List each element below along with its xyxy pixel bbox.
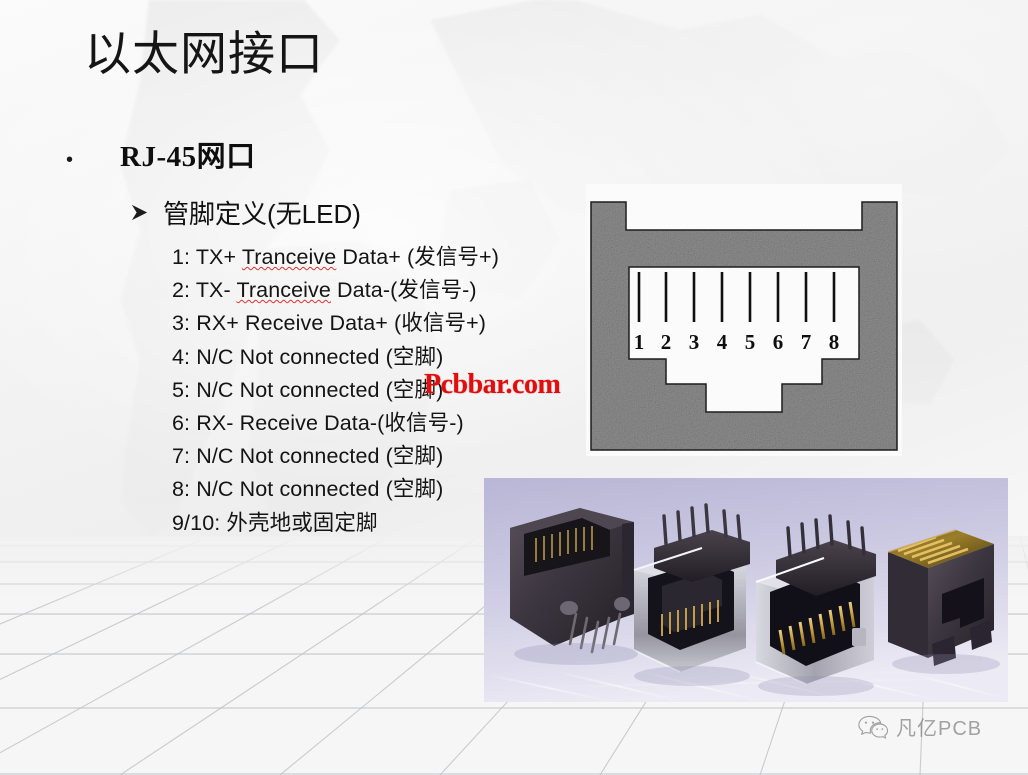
pin-description: Not connected (空脚) [240,378,444,402]
pin-number: 3: [172,311,196,335]
bullet-level2-label: 管脚定义(无LED) [163,194,361,231]
pin-signal: N/C [196,477,239,501]
svg-text:1: 1 [634,330,645,354]
page-title: 以太网接口 [84,28,324,81]
svg-text:7: 7 [801,330,812,354]
footer-brand-label: 凡亿PCB [896,712,982,741]
bullet-level1: • RJ-45网口 [66,133,256,175]
pin-number: 5: [172,378,196,402]
pin-number: 4: [172,345,196,369]
pin-signal: N/C [196,378,239,402]
svg-text:3: 3 [689,330,700,354]
list-item: 6: RX- Receive Data-(收信号-) [172,407,572,440]
pin-signal: N/C [196,444,239,468]
pin-description: Data+ (发信号+) [336,245,499,269]
pin-number: 8: [172,477,196,501]
pin-number: 7: [172,444,196,468]
pin-description: Receive Data+ (收信号+) [245,311,486,335]
list-item: 1: TX+ Tranceive Data+ (发信号+) [172,241,572,274]
pin-number: 1: [172,245,196,269]
svg-text:4: 4 [717,330,728,354]
pin-number: 6: [172,411,196,435]
pin-number: 2: [172,278,196,302]
arrow-right-icon [130,203,149,222]
pin-number: 9/10: [172,511,226,535]
site-watermark: Pcbbar.com [424,369,560,401]
pin-description: 外壳地或固定脚 [226,511,377,535]
list-item: 2: TX- Tranceive Data-(发信号-) [172,274,572,307]
pin-signal: TX+ [196,245,242,269]
pin-signal: RX- [196,411,239,435]
pin-description: Not connected (空脚) [240,477,444,501]
slide-canvas: 以太网接口 • RJ-45网口 管脚定义(无LED) 1: TX+ Trance… [0,0,1028,775]
wechat-icon [858,714,888,740]
svg-text:2: 2 [661,330,672,354]
pin-description: Data-(发信号-) [331,278,477,302]
bullet-dot-icon: • [66,150,120,170]
svg-text:8: 8 [829,330,840,354]
rj45-connector-photo [484,478,1008,702]
list-item: 7: N/C Not connected (空脚) [172,440,572,473]
pin-signal: TX- [196,278,237,302]
list-item: 3: RX+ Receive Data+ (收信号+) [172,307,572,340]
svg-text:5: 5 [745,330,756,354]
pin-description: Not connected (空脚) [240,345,444,369]
svg-text:6: 6 [773,330,784,354]
pin-description: Receive Data-(收信号-) [240,411,464,435]
pin-signal: N/C [196,345,239,369]
pin-misspelled-word: Tranceive [236,278,331,302]
bullet-level2: 管脚定义(无LED) [130,194,361,231]
rj45-jack-diagram: 1 2 3 4 5 6 7 8 [586,184,902,456]
bullet-level1-label: RJ-45网口 [120,133,256,175]
pin-signal: RX+ [196,311,245,335]
footer-brand: 凡亿PCB [858,712,982,741]
pin-misspelled-word: Tranceive [242,245,337,269]
pin-description: Not connected (空脚) [240,444,444,468]
